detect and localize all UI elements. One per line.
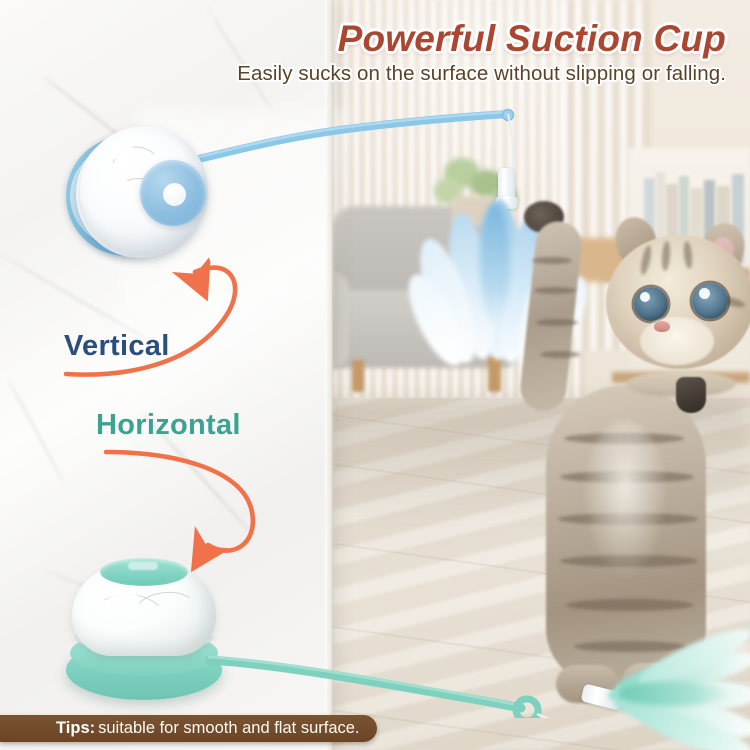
label-horizontal: Horizontal — [96, 409, 241, 442]
label-vertical: Vertical — [64, 330, 170, 363]
kitten-eye-right — [692, 283, 728, 319]
tips-label: Tips: — [56, 719, 95, 738]
kitten-eye-left — [634, 287, 668, 321]
wand-blue-string — [500, 112, 530, 174]
marble-vein-6 — [7, 378, 65, 485]
page-title: Powerful Suction Cup — [0, 18, 750, 60]
wand-mint — [205, 648, 625, 718]
kitten-muzzle — [640, 317, 714, 365]
kitten-arm-stripe-3 — [536, 319, 578, 326]
feather-mint — [608, 648, 750, 750]
product-marketing-image: Powerful Suction Cup Easily sucks on the… — [0, 0, 750, 750]
sofa-leg-left — [352, 360, 364, 392]
kitten-foreleg — [518, 219, 584, 413]
kitten-nose — [654, 321, 670, 332]
kitten-body-stripe-5 — [566, 599, 694, 611]
feather-mint-core — [618, 682, 726, 706]
tips-banner: Tips: suitable for smooth and flat surfa… — [0, 715, 377, 742]
kitten-bell — [676, 377, 706, 413]
kitten-arm-stripe-4 — [540, 351, 580, 358]
kitten-arm-stripe-2 — [534, 287, 576, 294]
kitten-chest — [582, 421, 668, 581]
kitten-eye-right-glint — [699, 288, 710, 299]
floor-toy-cap-slot — [128, 562, 158, 570]
wall-toy-button-center[interactable] — [163, 183, 186, 206]
kitten-arm-stripe-1 — [532, 257, 572, 264]
wand-blue — [190, 108, 520, 178]
kitten-eye-left-glint — [640, 292, 650, 302]
wall-suction-toy — [64, 122, 220, 270]
page-subtitle: Easily sucks on the surface without slip… — [0, 62, 750, 86]
tips-text: suitable for smooth and flat surface. — [98, 719, 359, 738]
